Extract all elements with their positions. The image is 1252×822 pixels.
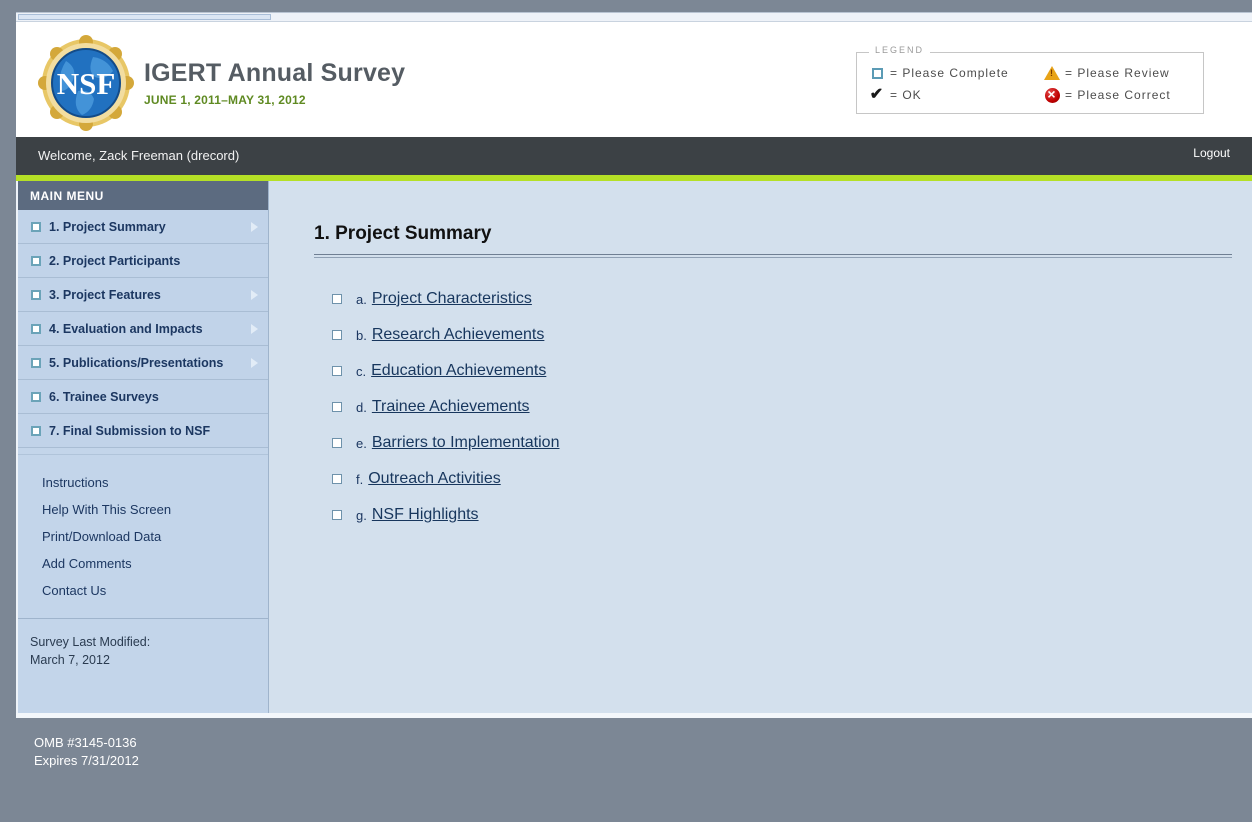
sidebar-item-project-participants[interactable]: 2. Project Participants (18, 244, 268, 278)
sidebar-header-label: MAIN MENU (30, 189, 104, 203)
footer-text: OMB #3145-0136 Expires 7/31/2012 (34, 734, 139, 769)
section-letter: e. (356, 436, 367, 451)
legend-item-please-complete: = Please Complete (867, 66, 1042, 80)
sidebar-item-label: 4. Evaluation and Impacts (49, 322, 203, 336)
sidebar-item-label: 1. Project Summary (49, 220, 166, 234)
section-letter: c. (356, 364, 366, 379)
sidebar-item-trainee-surveys[interactable]: 6. Trainee Surveys (18, 380, 268, 414)
checkmark-icon: ✔ (867, 87, 887, 103)
survey-period: JUNE 1, 2011–MAY 31, 2012 (144, 93, 405, 107)
section-letter: b. (356, 328, 367, 343)
section-row[interactable]: e. Barriers to Implementation (332, 425, 559, 461)
status-checkbox-icon (332, 366, 342, 376)
sidebar-item-project-summary[interactable]: 1. Project Summary (18, 210, 268, 244)
status-checkbox-icon (332, 510, 342, 520)
last-modified-label: Survey Last Modified: (30, 633, 268, 651)
chevron-right-icon (251, 290, 258, 300)
error-circle-icon (1042, 88, 1062, 103)
application-frame: NSF IGERT Annual Survey JUNE 1, 2011–MAY… (16, 12, 1252, 822)
status-checkbox-icon (31, 256, 41, 266)
legend-label: = Please Correct (1065, 88, 1171, 102)
section-link-nsf-highlights[interactable]: NSF Highlights (372, 506, 479, 524)
status-checkbox-icon (332, 294, 342, 304)
section-row[interactable]: c. Education Achievements (332, 353, 559, 389)
status-checkbox-icon (332, 438, 342, 448)
survey-last-modified: Survey Last Modified: March 7, 2012 (18, 618, 268, 669)
title-divider (314, 254, 1232, 258)
status-checkbox-icon (332, 330, 342, 340)
sidebar-item-label: 6. Trainee Surveys (49, 390, 159, 404)
section-row[interactable]: b. Research Achievements (332, 317, 559, 353)
status-checkbox-icon (332, 474, 342, 484)
status-checkbox-icon (31, 324, 41, 334)
footer: OMB #3145-0136 Expires 7/31/2012 (16, 718, 1252, 822)
sidebar-item-evaluation-and-impacts[interactable]: 4. Evaluation and Impacts (18, 312, 268, 346)
sidebar-item-label: 7. Final Submission to NSF (49, 424, 210, 438)
sidebar-item-publications-presentations[interactable]: 5. Publications/Presentations (18, 346, 268, 380)
legend-box: LEGEND = Please Complete = Please Review… (856, 52, 1204, 114)
empty-checkbox-icon (867, 68, 887, 79)
sidebar-link-contact-us[interactable]: Contact Us (18, 577, 268, 604)
section-link-barriers-to-implementation[interactable]: Barriers to Implementation (372, 434, 560, 452)
sidebar-item-project-features[interactable]: 3. Project Features (18, 278, 268, 312)
legend-item-ok: ✔ = OK (867, 87, 1042, 103)
sidebar-link-help-with-this-screen[interactable]: Help With This Screen (18, 496, 268, 523)
section-letter: g. (356, 508, 367, 523)
section-letter: d. (356, 400, 367, 415)
welcome-bar: Welcome, Zack Freeman (drecord) Logout (16, 137, 1252, 175)
sidebar-header: MAIN MENU (18, 181, 268, 210)
status-checkbox-icon (332, 402, 342, 412)
sidebar: MAIN MENU 1. Project Summary 2. Project … (18, 181, 269, 713)
legend-label: = OK (890, 88, 922, 102)
section-letter: f. (356, 472, 363, 487)
sidebar-link-add-comments[interactable]: Add Comments (18, 550, 268, 577)
legend-title: LEGEND (869, 45, 930, 55)
sidebar-item-label: 3. Project Features (49, 288, 161, 302)
legend-label: = Please Complete (890, 66, 1009, 80)
section-row[interactable]: d. Trainee Achievements (332, 389, 559, 425)
chevron-right-icon (251, 324, 258, 334)
sidebar-link-instructions[interactable]: Instructions (18, 469, 268, 496)
omb-expiration: Expires 7/31/2012 (34, 752, 139, 770)
legend-label: = Please Review (1065, 66, 1170, 80)
body-area: MAIN MENU 1. Project Summary 2. Project … (16, 181, 1252, 713)
section-row[interactable]: f. Outreach Activities (332, 461, 559, 497)
section-link-outreach-activities[interactable]: Outreach Activities (368, 470, 501, 488)
nsf-logo-icon: NSF (38, 35, 134, 131)
status-checkbox-icon (31, 426, 41, 436)
status-checkbox-icon (31, 222, 41, 232)
logout-link[interactable]: Logout (1193, 146, 1230, 160)
page-title: IGERT Annual Survey (144, 60, 405, 88)
legend-item-please-review: = Please Review (1042, 66, 1202, 80)
sidebar-item-label: 5. Publications/Presentations (49, 356, 223, 370)
main-content: 1. Project Summary a. Project Characteri… (270, 181, 1252, 713)
section-letter: a. (356, 292, 367, 307)
status-checkbox-icon (31, 290, 41, 300)
welcome-message: Welcome, Zack Freeman (drecord) (38, 148, 239, 163)
sidebar-link-print-download-data[interactable]: Print/Download Data (18, 523, 268, 550)
section-link-trainee-achievements[interactable]: Trainee Achievements (372, 398, 530, 416)
svg-text:NSF: NSF (57, 66, 116, 101)
horizontal-scrollbar[interactable] (16, 12, 1252, 22)
title-block: IGERT Annual Survey JUNE 1, 2011–MAY 31,… (144, 60, 405, 107)
chevron-right-icon (251, 358, 258, 368)
sidebar-item-final-submission-to-nsf[interactable]: 7. Final Submission to NSF (18, 414, 268, 448)
omb-number: OMB #3145-0136 (34, 734, 139, 752)
section-row[interactable]: a. Project Characteristics (332, 281, 559, 317)
section-link-education-achievements[interactable]: Education Achievements (371, 362, 546, 380)
section-link-project-characteristics[interactable]: Project Characteristics (372, 290, 532, 308)
status-checkbox-icon (31, 358, 41, 368)
horizontal-scrollbar-thumb[interactable] (18, 14, 271, 20)
warning-triangle-icon (1042, 66, 1062, 80)
section-link-research-achievements[interactable]: Research Achievements (372, 326, 545, 344)
masthead: NSF IGERT Annual Survey JUNE 1, 2011–MAY… (16, 22, 1252, 137)
legend-item-please-correct: = Please Correct (1042, 88, 1202, 103)
section-list: a. Project Characteristics b. Research A… (332, 281, 559, 533)
content-page-title: 1. Project Summary (314, 223, 491, 245)
sidebar-utility-links: Instructions Help With This Screen Print… (18, 454, 268, 604)
status-checkbox-icon (31, 392, 41, 402)
sidebar-item-label: 2. Project Participants (49, 254, 180, 268)
chevron-right-icon (251, 222, 258, 232)
section-row[interactable]: g. NSF Highlights (332, 497, 559, 533)
last-modified-date: March 7, 2012 (30, 651, 268, 669)
